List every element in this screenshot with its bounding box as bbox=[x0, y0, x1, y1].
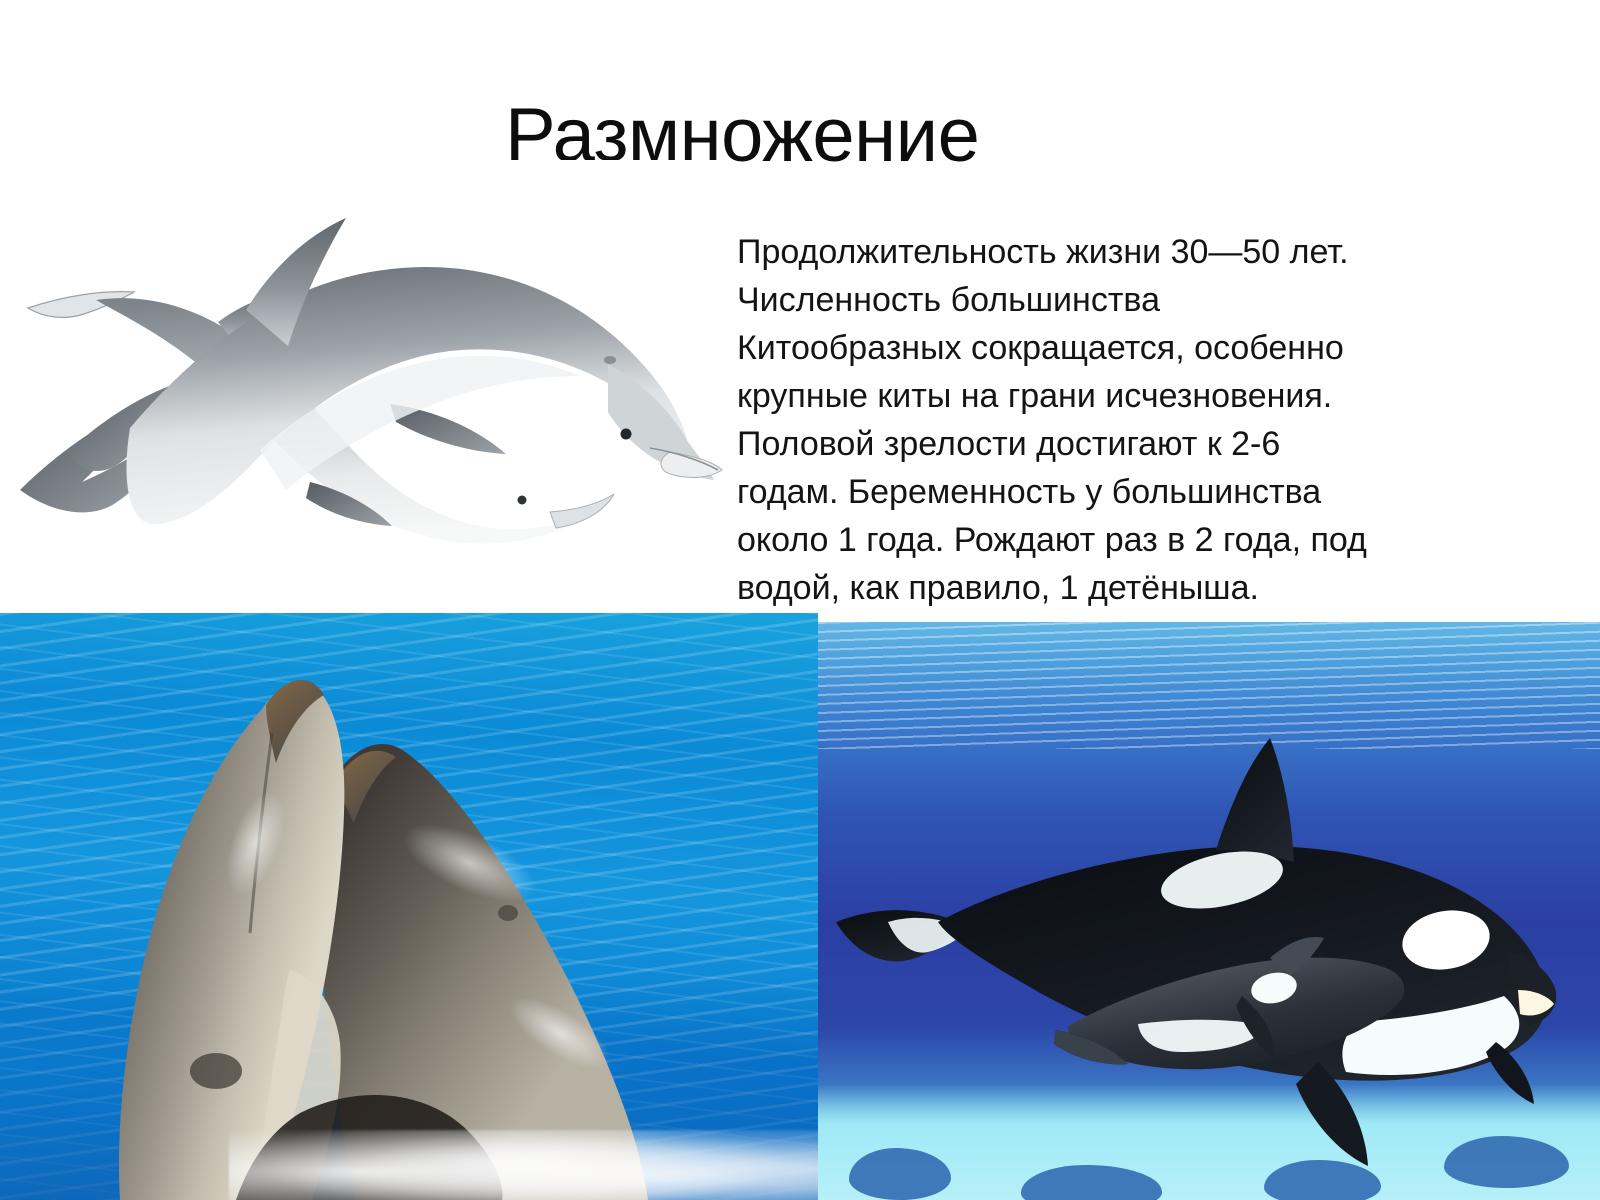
dolphin-right-blowhole bbox=[498, 905, 518, 921]
water-foam bbox=[229, 1130, 818, 1200]
lower-beak bbox=[550, 494, 614, 528]
orca-dorsal-fin bbox=[1216, 738, 1294, 862]
body-line: водой, как правило, 1 детёныша. bbox=[737, 564, 1417, 612]
slide: Размножение Продолжительность жизни 30—5… bbox=[0, 0, 1600, 1200]
orca-photo-svg bbox=[818, 622, 1600, 1200]
dolphin-drawing-svg bbox=[10, 160, 725, 560]
dolphin-upper bbox=[68, 218, 722, 524]
body-line: около 1 года. Рождают раз в 2 года, под bbox=[737, 516, 1417, 564]
upper-blowhole bbox=[604, 356, 616, 364]
body-line: Численность большинства bbox=[737, 276, 1417, 324]
orca-mother bbox=[836, 738, 1556, 1166]
body-text-block: Продолжительность жизни 30—50 лет. Числе… bbox=[737, 228, 1417, 612]
body-line: Китообразных сокращается, особенно bbox=[737, 324, 1417, 372]
orca-mother-and-calf-photo bbox=[818, 622, 1600, 1200]
body-line: Половой зрелости достигают к 2-6 bbox=[737, 420, 1417, 468]
dolphins-photo-svg bbox=[0, 613, 818, 1200]
lower-eye bbox=[518, 496, 527, 505]
body-line: Продолжительность жизни 30—50 лет. bbox=[737, 228, 1417, 276]
bottlenose-dolphins-photo bbox=[0, 613, 818, 1200]
upper-eye bbox=[621, 429, 632, 440]
two-dolphins-illustration bbox=[10, 160, 725, 560]
body-line: крупные киты на грани исчезновения. bbox=[737, 372, 1417, 420]
dolphin-left-eye bbox=[190, 1053, 242, 1089]
body-line: годам. Беременность у большинства bbox=[737, 468, 1417, 516]
